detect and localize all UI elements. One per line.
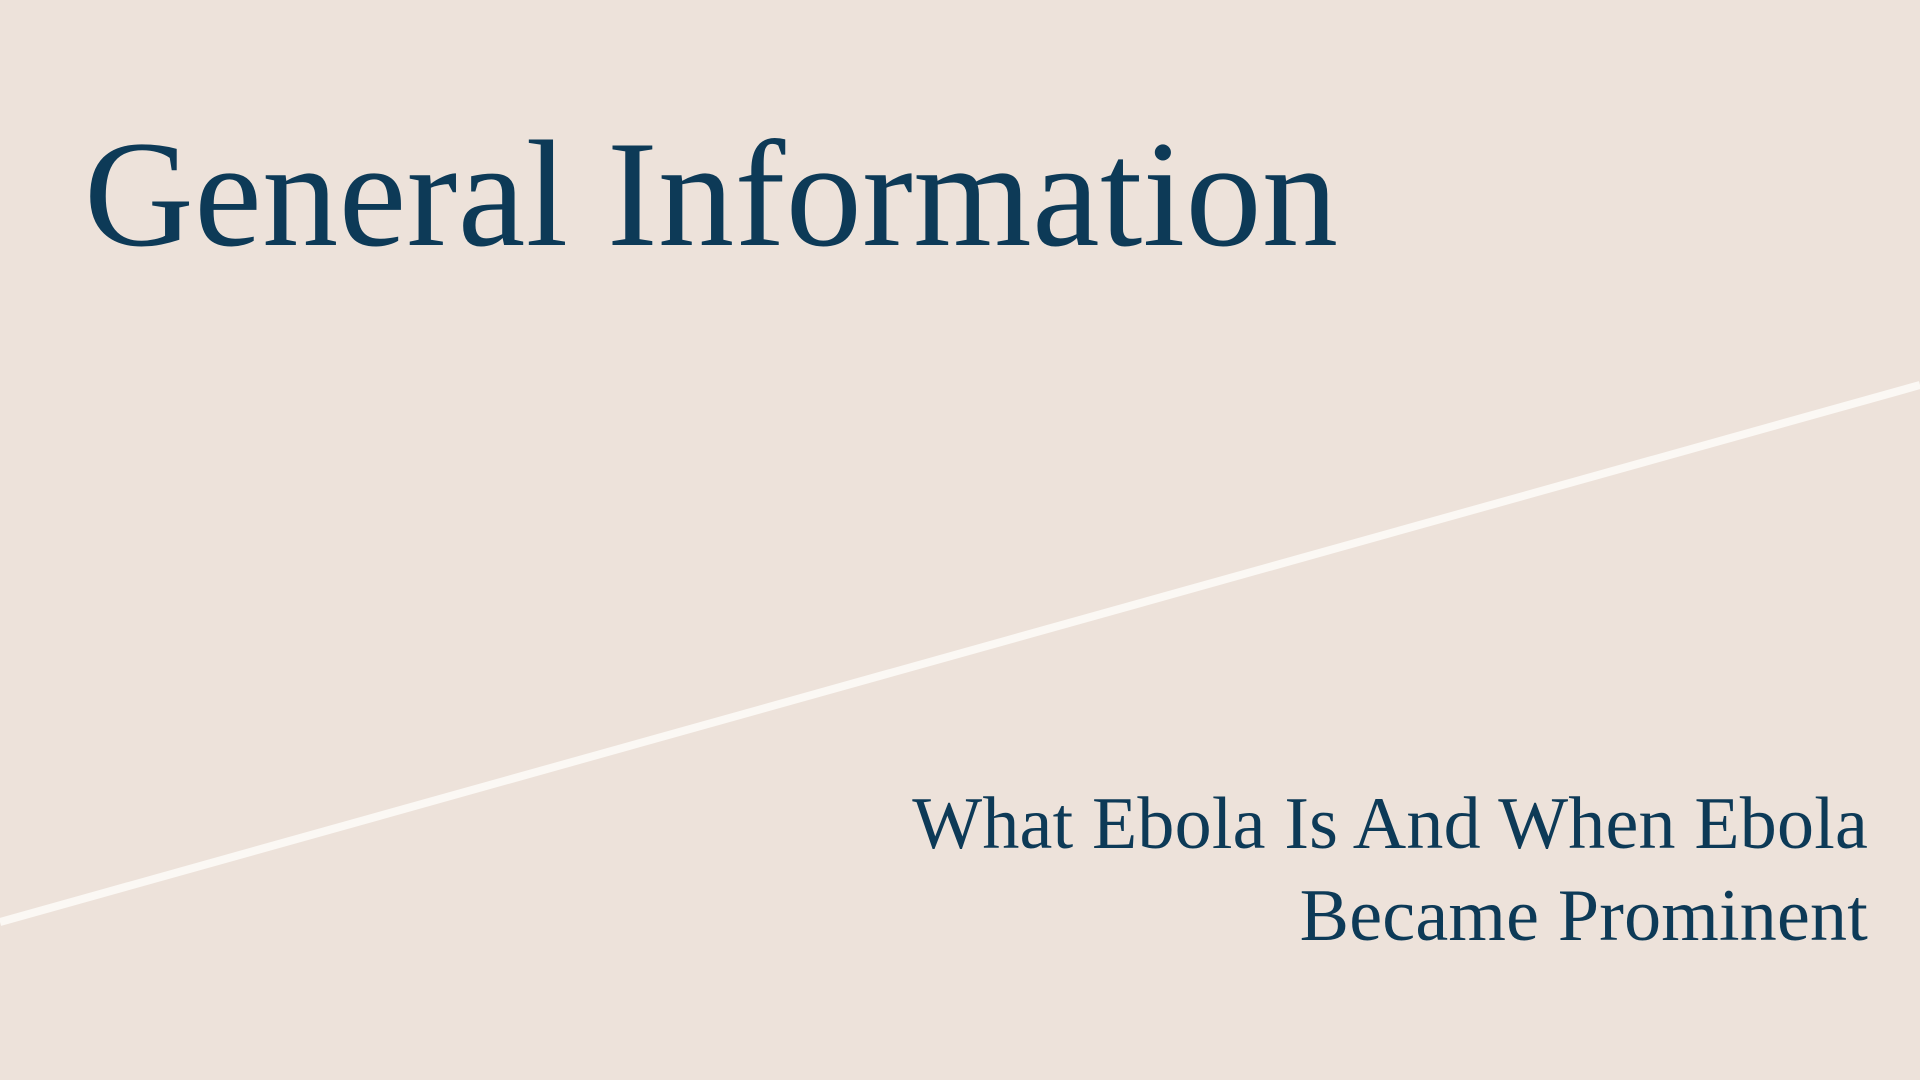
slide-subtitle-line-2: Became Prominent [568, 870, 1868, 962]
page-title: General Information [84, 118, 1784, 270]
slide-subtitle-line-1: What Ebola Is And When Ebola [568, 778, 1868, 870]
presentation-slide: General Information What Ebola Is And Wh… [0, 0, 1920, 1080]
slide-subtitle: What Ebola Is And When Ebola Became Prom… [568, 778, 1868, 962]
